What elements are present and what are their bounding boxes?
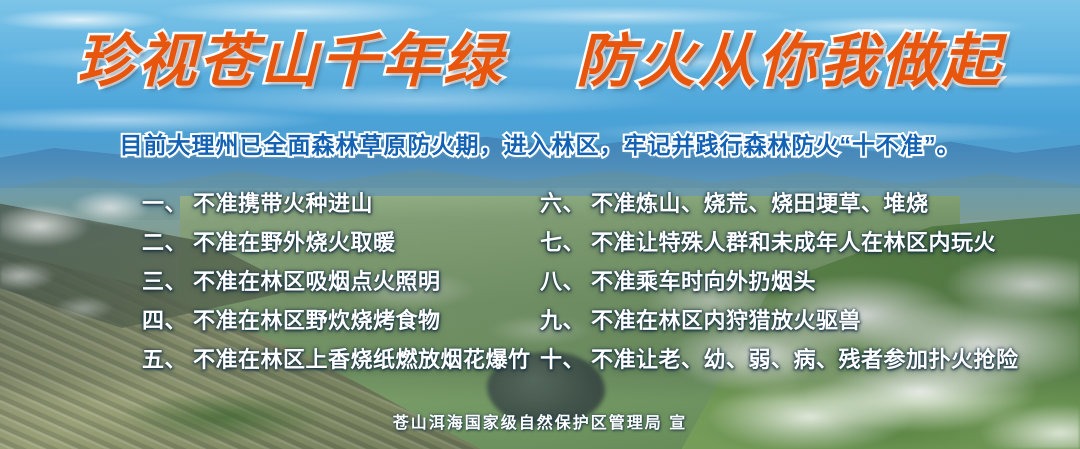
rule-item: 一、不准携带火种进山 bbox=[142, 190, 520, 217]
headline-right: 防火从你我做起 bbox=[576, 33, 1003, 91]
rules-columns: 一、不准携带火种进山 二、不准在野外烧火取暖 三、不准在林区吸烟点火照明 四、不… bbox=[0, 190, 1080, 373]
rule-text: 不准携带火种进山 bbox=[193, 191, 373, 216]
rule-text: 不准在林区野炊烧烤食物 bbox=[193, 308, 441, 333]
rule-index: 一、 bbox=[142, 191, 187, 216]
rule-index: 二、 bbox=[142, 230, 187, 255]
issuing-authority-footer: 苍山洱海国家级自然保护区管理局 宣 bbox=[0, 409, 1080, 433]
rule-text: 不准让老、幼、弱、病、残者参加扑火抢险 bbox=[591, 347, 1019, 372]
rule-text: 不准在林区吸烟点火照明 bbox=[193, 269, 441, 294]
rule-item: 九、不准在林区内狩猎放火驱兽 bbox=[540, 307, 1020, 334]
rule-index: 四、 bbox=[142, 308, 187, 333]
rule-index: 八、 bbox=[540, 269, 585, 294]
rule-text: 不准在林区上香烧纸燃放烟花爆竹 bbox=[193, 347, 531, 372]
rule-item: 三、不准在林区吸烟点火照明 bbox=[142, 268, 520, 295]
headline-row: 珍视苍山千年绿 防火从你我做起 bbox=[0, 33, 1080, 91]
rule-item: 六、不准炼山、烧荒、烧田埂草、堆烧 bbox=[540, 190, 1020, 217]
rule-item: 四、不准在林区野炊烧烤食物 bbox=[142, 307, 520, 334]
forest-fire-prevention-poster: 珍视苍山千年绿 防火从你我做起 目前大理州已全面森林草原防火期，进入林区，牢记并… bbox=[0, 0, 1080, 449]
rules-column-right: 六、不准炼山、烧荒、烧田埂草、堆烧 七、不准让特殊人群和未成年人在林区内玩火 八… bbox=[520, 190, 1020, 373]
rule-text: 不准在野外烧火取暖 bbox=[193, 230, 396, 255]
rule-index: 六、 bbox=[540, 191, 585, 216]
rule-item: 二、不准在野外烧火取暖 bbox=[142, 229, 520, 256]
rule-text: 不准乘车时向外扔烟头 bbox=[591, 269, 816, 294]
subtitle-banner: 目前大理州已全面森林草原防火期，进入林区，牢记并践行森林防火“十不准”。 bbox=[0, 126, 1080, 160]
rule-item: 十、不准让老、幼、弱、病、残者参加扑火抢险 bbox=[540, 346, 1020, 373]
rule-item: 七、不准让特殊人群和未成年人在林区内玩火 bbox=[540, 229, 1020, 256]
rule-index: 九、 bbox=[540, 308, 585, 333]
rule-text: 不准让特殊人群和未成年人在林区内玩火 bbox=[591, 230, 996, 255]
rule-item: 五、不准在林区上香烧纸燃放烟花爆竹 bbox=[142, 346, 520, 373]
rule-index: 十、 bbox=[540, 347, 585, 372]
rule-item: 八、不准乘车时向外扔烟头 bbox=[540, 268, 1020, 295]
rule-index: 七、 bbox=[540, 230, 585, 255]
rule-index: 五、 bbox=[142, 347, 187, 372]
rule-text: 不准在林区内狩猎放火驱兽 bbox=[591, 308, 861, 333]
poster-content: 珍视苍山千年绿 防火从你我做起 目前大理州已全面森林草原防火期，进入林区，牢记并… bbox=[0, 0, 1080, 449]
rule-text: 不准炼山、烧荒、烧田埂草、堆烧 bbox=[591, 191, 929, 216]
rule-index: 三、 bbox=[142, 269, 187, 294]
headline-left: 珍视苍山千年绿 bbox=[77, 33, 504, 91]
rules-column-left: 一、不准携带火种进山 二、不准在野外烧火取暖 三、不准在林区吸烟点火照明 四、不… bbox=[60, 190, 520, 373]
